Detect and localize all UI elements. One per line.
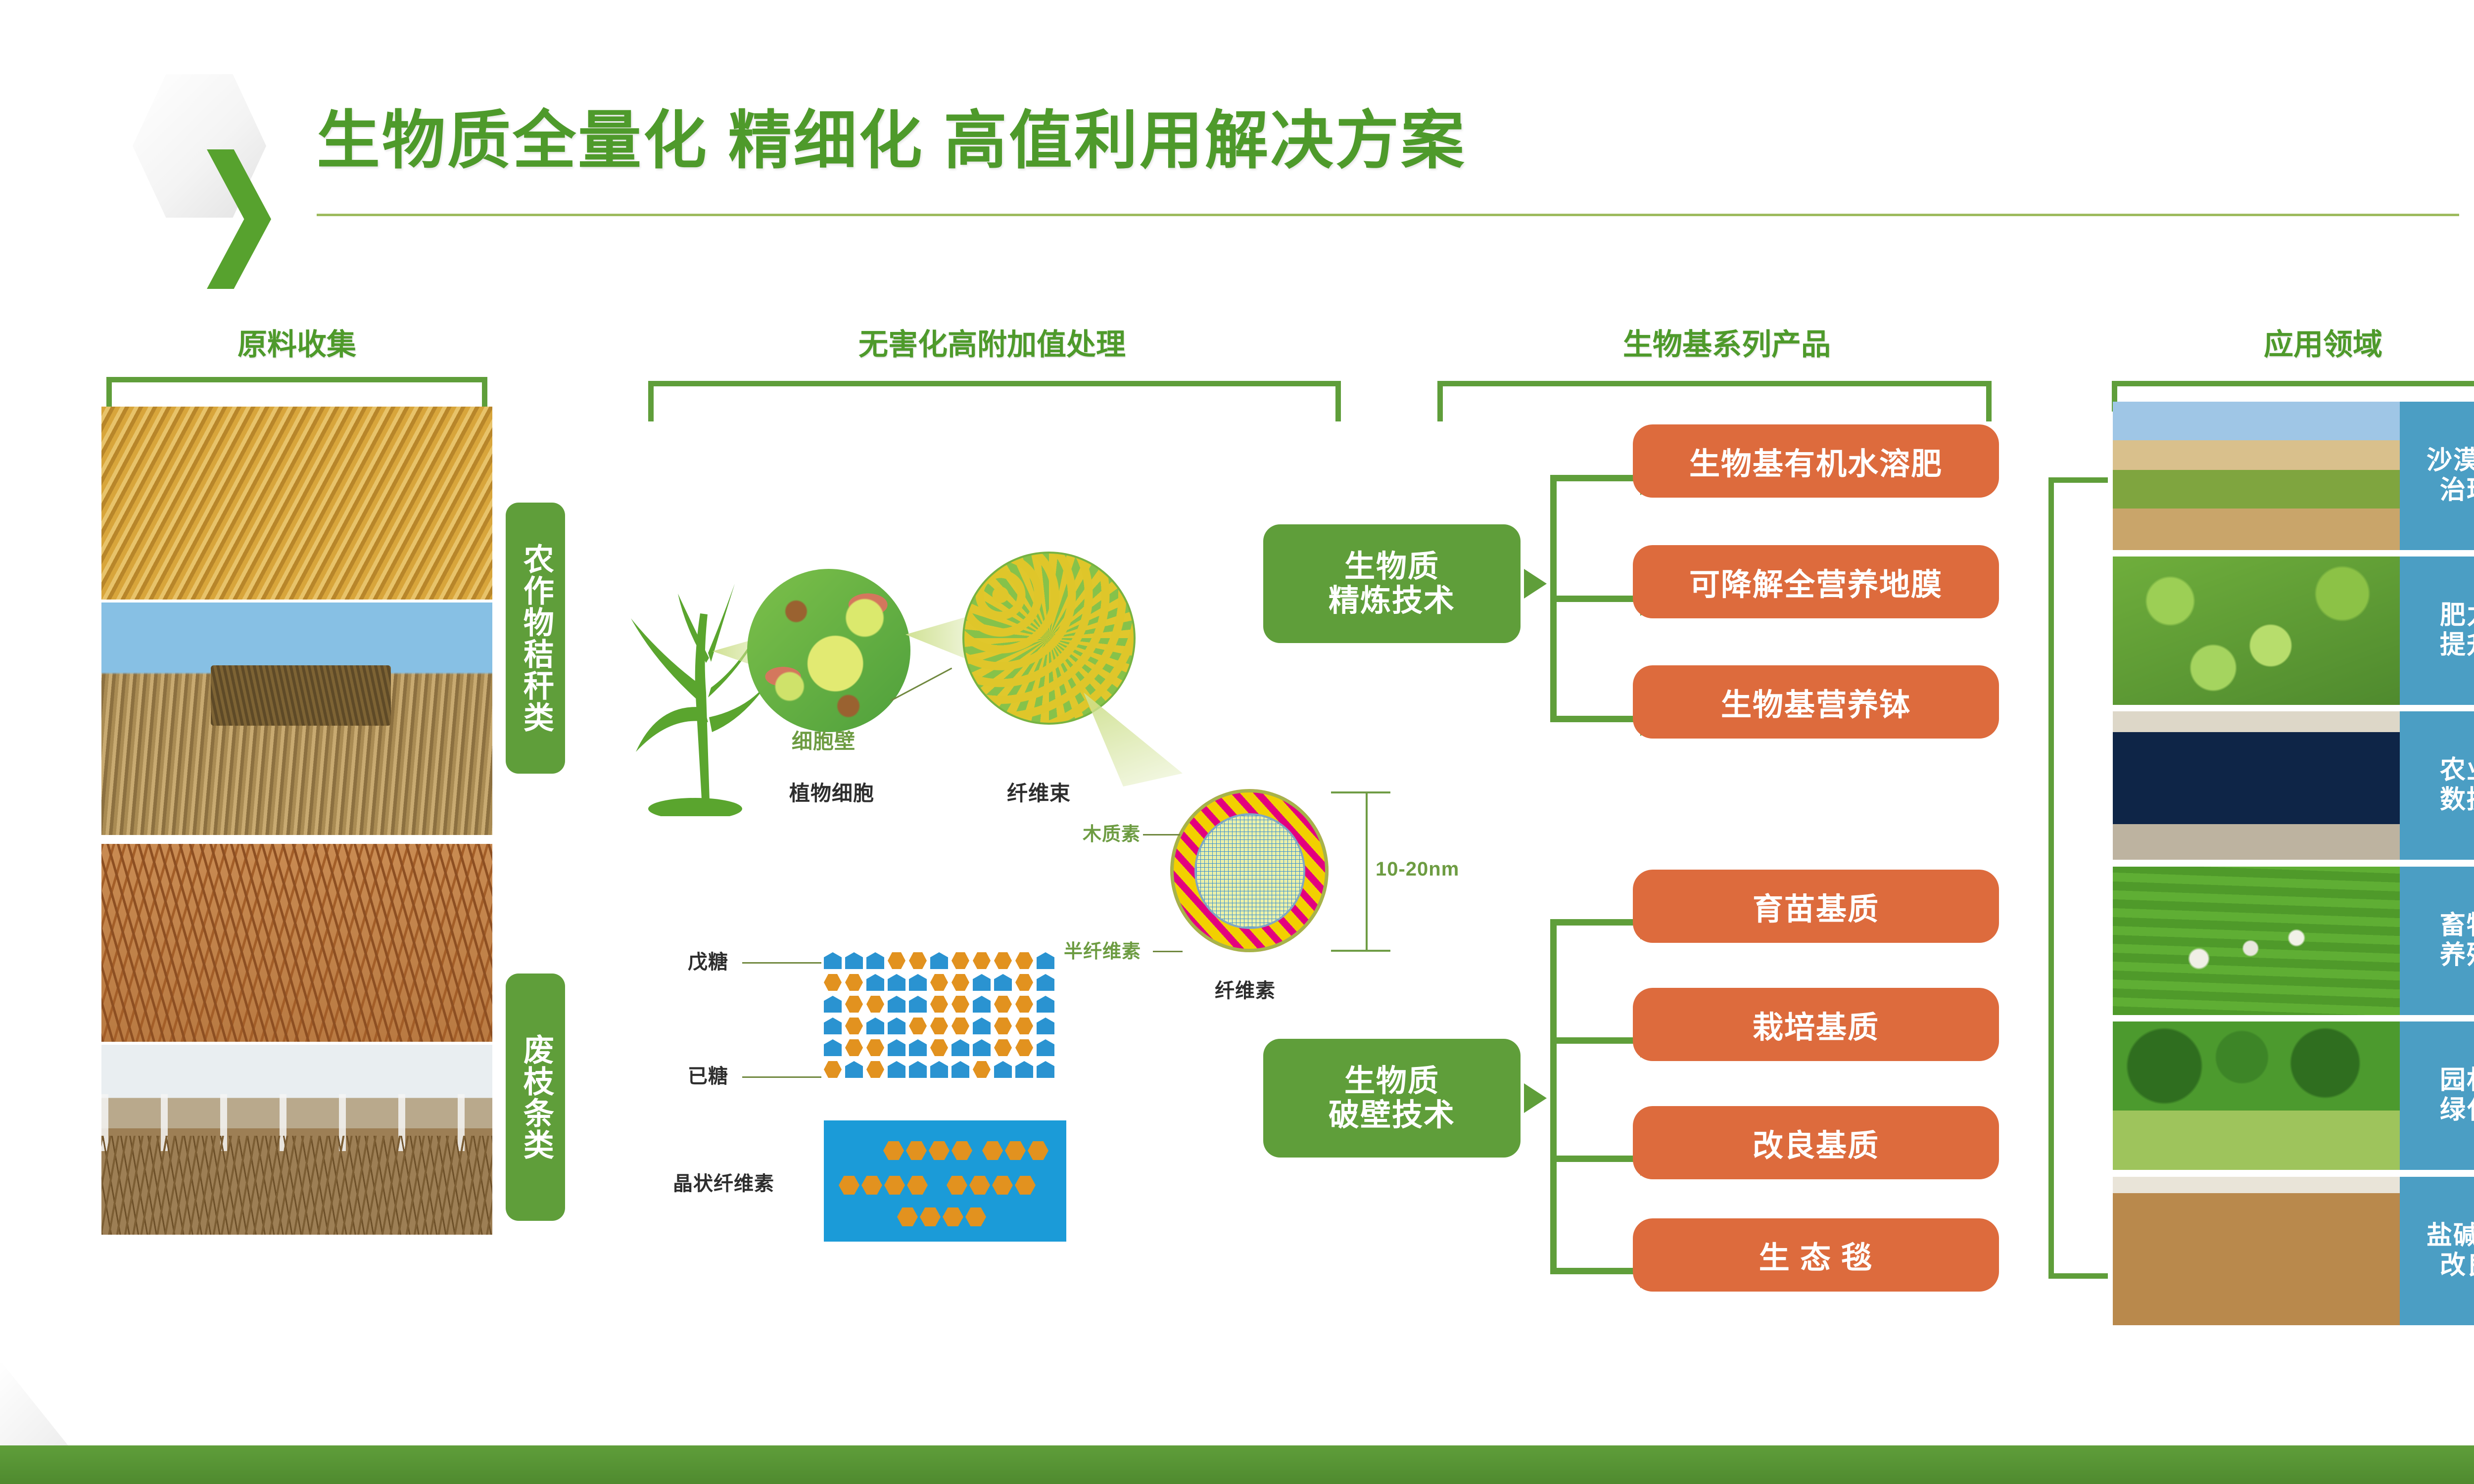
- crystalline-cellulose-diagram: [824, 1120, 1066, 1242]
- product-box-seedling-substrate[interactable]: 育苗基质: [1633, 870, 1999, 943]
- sugar-chain-row: [824, 1061, 1066, 1078]
- application-label-desert: 沙漠化 治理: [2400, 402, 2474, 550]
- product-box-ecological-blanket[interactable]: 生 态 毯: [1633, 1218, 1999, 1292]
- application-photo-desert: [2113, 402, 2400, 550]
- dimension-tick-bottom: [1331, 950, 1390, 952]
- leader-lignin: [1143, 834, 1180, 835]
- feedstock-photo-straw-bale: [101, 603, 492, 835]
- application-row-saline[interactable]: 盐碱地 改良: [2113, 1177, 2474, 1325]
- fiber-bundle-diagram-icon: [962, 552, 1136, 725]
- application-label-fertility: 肥力 提升: [2400, 556, 2474, 705]
- application-label-desert-line2: 治理: [2440, 476, 2474, 506]
- tech-box-wall-breaking-line1: 生物质: [1344, 1064, 1439, 1098]
- application-label-livestock-line1: 畜牧: [2440, 911, 2474, 941]
- application-label-data-line2: 数据: [2440, 786, 2474, 815]
- label-pentose: 戊糖: [688, 946, 728, 974]
- leader-pentose: [742, 962, 821, 964]
- tech-box-refining[interactable]: 生物质 精炼技术: [1263, 524, 1521, 643]
- applications-inflow-bracket: [2048, 477, 2108, 1279]
- sugar-chain-row: [824, 996, 1066, 1013]
- product-box-water-soluble-fertilizer[interactable]: 生物基有机水溶肥: [1633, 424, 1999, 498]
- label-cell-wall: 细胞壁: [792, 725, 856, 755]
- bracket-products: [1437, 381, 1992, 421]
- dimension-tick-top: [1331, 791, 1390, 793]
- magnify-beam-nano: [1084, 693, 1183, 787]
- applications-inflow-bracket-bottom: [2048, 1222, 2108, 1279]
- title-underline-divider: [317, 214, 2459, 216]
- label-cellulose: 纤维素: [1215, 974, 1276, 1003]
- plant-cell-diagram-icon: [747, 569, 910, 732]
- feedstock-photo-corn-straw: [101, 407, 492, 600]
- sugar-chain-row: [824, 1039, 1066, 1056]
- application-row-landscaping[interactable]: 园林 绿化: [2113, 1021, 2474, 1170]
- column-title-processing: 无害化高附加值处理: [638, 321, 1346, 364]
- feedstock-photo-orchard-prunings: [101, 1045, 492, 1235]
- application-label-data: 农业 数据: [2400, 711, 2474, 860]
- application-label-fertility-line2: 提升: [2440, 631, 2474, 660]
- product-box-cultivation-substrate[interactable]: 栽培基质: [1633, 988, 1999, 1061]
- product-box-improvement-substrate[interactable]: 改良基质: [1633, 1106, 1999, 1179]
- column-title-collection: 原料收集: [101, 321, 492, 364]
- magnify-beam-fiber: [905, 616, 970, 660]
- application-label-livestock-line2: 养殖: [2440, 941, 2474, 971]
- application-label-desert-line1: 沙漠化: [2426, 446, 2474, 476]
- application-label-landscaping-line2: 绿化: [2440, 1096, 2474, 1125]
- label-hexose: 已糖: [688, 1060, 728, 1089]
- product-box-nutrient-pot[interactable]: 生物基营养钵: [1633, 665, 1999, 739]
- tech-box-wall-breaking-line2: 破壁技术: [1329, 1098, 1455, 1132]
- application-label-data-line1: 农业: [2440, 756, 2474, 786]
- label-crystalline-cellulose: 晶状纤维素: [673, 1167, 774, 1196]
- application-photo-cabbage: [2113, 556, 2400, 705]
- feedstock-tag-waste-branches: 废枝条类: [506, 974, 565, 1221]
- footer-bar: [0, 1445, 2474, 1484]
- sugar-chain-row: [824, 1018, 1066, 1034]
- label-lignin: 木质素: [1083, 819, 1141, 846]
- application-label-saline: 盐碱地 改良: [2400, 1177, 2474, 1325]
- dimension-label: 10-20nm: [1376, 858, 1459, 881]
- label-fiber-bundle: 纤维束: [1007, 777, 1071, 807]
- cellulose-core-mesh-icon: [1196, 815, 1303, 927]
- application-label-livestock: 畜牧 养殖: [2400, 867, 2474, 1015]
- sugar-chain-diagram: [824, 952, 1066, 1091]
- column-title-products: 生物基系列产品: [1435, 321, 2019, 364]
- leader-hexose: [742, 1076, 821, 1078]
- feedstock-tag-crop-straw: 农作物秸秆类: [506, 503, 565, 774]
- application-row-data[interactable]: 农业 数据: [2113, 711, 2474, 860]
- arrow-into-wallbreaking: [1524, 1083, 1547, 1113]
- arrow-into-refining: [1524, 569, 1547, 599]
- application-label-saline-line1: 盐碱地: [2426, 1221, 2474, 1251]
- application-label-saline-line2: 改良: [2440, 1251, 2474, 1281]
- hexagon-chevron-logo-icon: [133, 74, 281, 218]
- label-plant-cell: 植物细胞: [789, 777, 874, 807]
- sugar-chain-row: [824, 952, 1066, 969]
- application-photo-control-room: [2113, 711, 2400, 860]
- application-row-fertility[interactable]: 肥力 提升: [2113, 556, 2474, 705]
- bracket-processing: [648, 381, 1341, 421]
- application-row-livestock[interactable]: 畜牧 养殖: [2113, 867, 2474, 1015]
- dimension-line: [1366, 791, 1368, 952]
- application-photo-saline-land: [2113, 1177, 2400, 1325]
- product-box-biodegradable-mulch-film[interactable]: 可降解全营养地膜: [1633, 545, 1999, 618]
- feedstock-photo-stack: [101, 407, 492, 1235]
- application-photo-park: [2113, 1021, 2400, 1170]
- label-hemicellulose: 半纤维素: [1064, 936, 1141, 963]
- tech-box-wall-breaking[interactable]: 生物质 破壁技术: [1263, 1039, 1521, 1158]
- sugar-chain-row: [824, 974, 1066, 991]
- leader-hemicellulose: [1153, 951, 1183, 952]
- page-title: 生物质全量化 精细化 高值利用解决方案: [317, 89, 1466, 181]
- application-row-desert[interactable]: 沙漠化 治理: [2113, 402, 2474, 550]
- application-photo-sheep: [2113, 867, 2400, 1015]
- application-label-landscaping-line1: 园林: [2440, 1066, 2474, 1096]
- tech-box-refining-line2: 精炼技术: [1329, 584, 1455, 618]
- feedstock-photo-branches: [101, 844, 492, 1042]
- application-label-fertility-line1: 肥力: [2440, 601, 2474, 631]
- tech-box-refining-line1: 生物质: [1344, 550, 1439, 584]
- application-label-landscaping: 园林 绿化: [2400, 1021, 2474, 1170]
- slide-canvas: 生物质全量化 精细化 高值利用解决方案 原料收集 无害化高附加值处理 生物基系列…: [0, 0, 2474, 1484]
- column-title-applications: 应用领域: [2113, 321, 2474, 364]
